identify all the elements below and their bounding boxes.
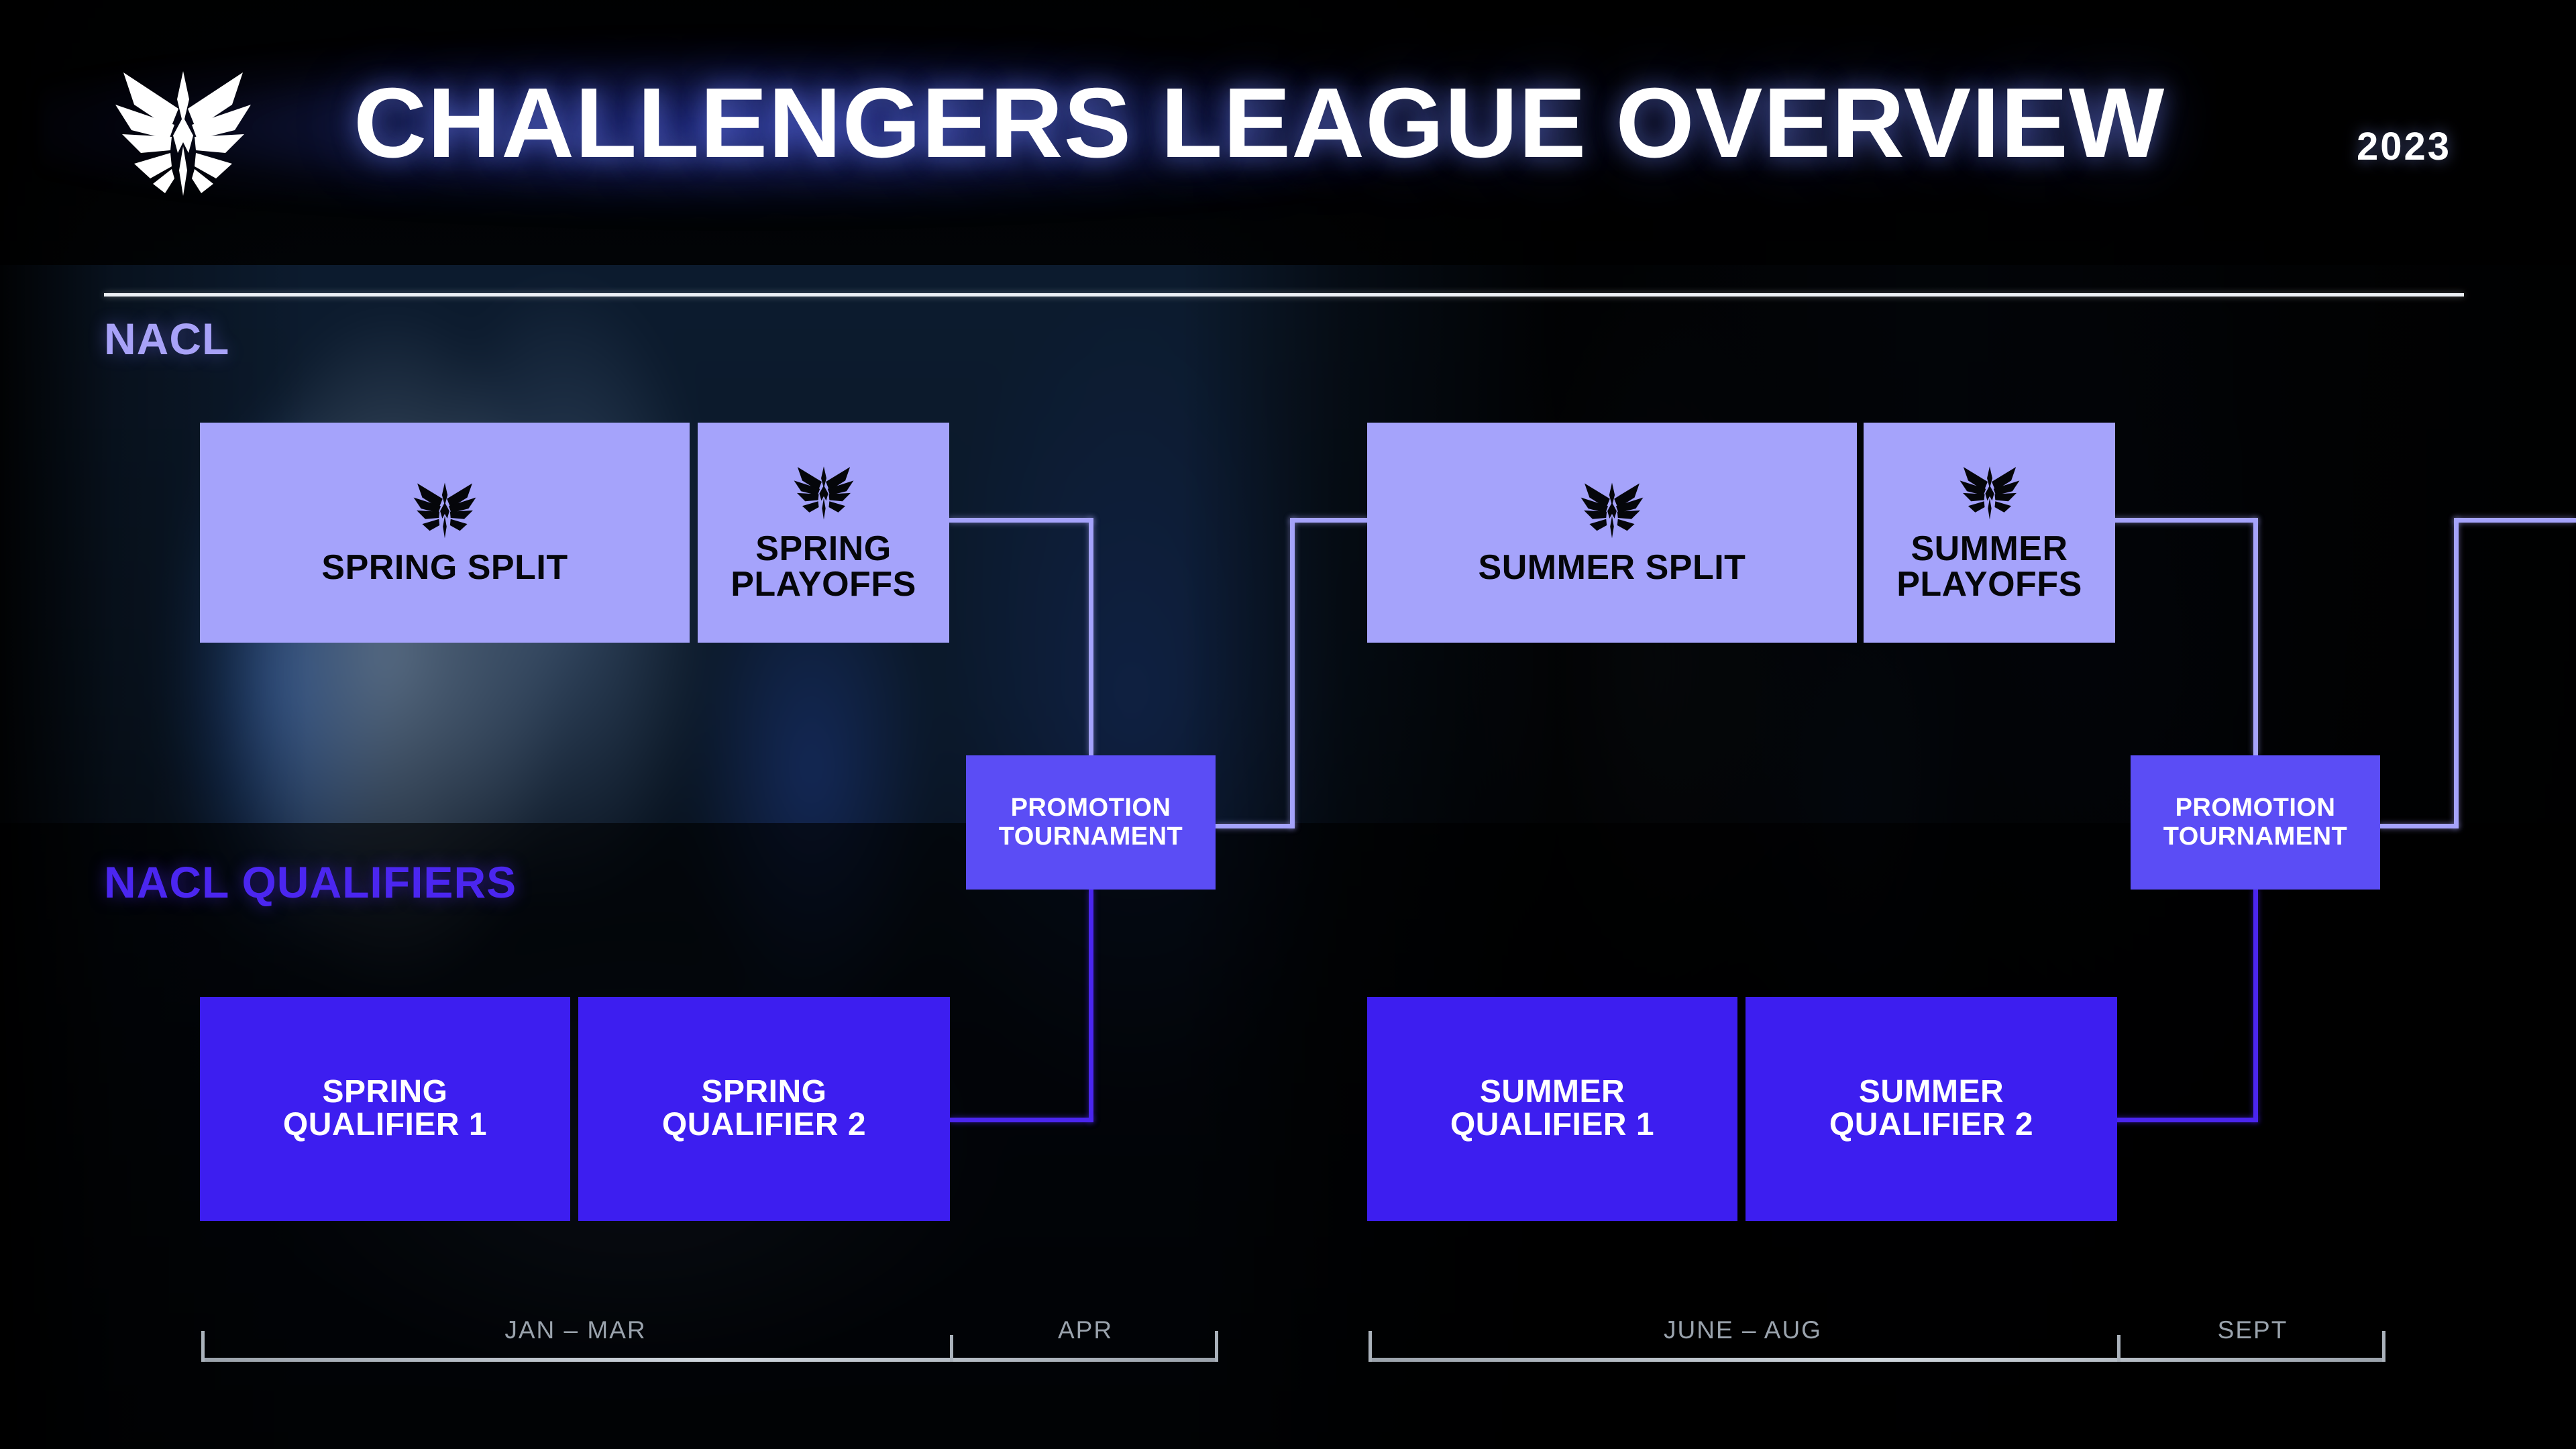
timeline-spring: JAN – MAR APR — [201, 1315, 1218, 1362]
stage-box-summer-playoffs[interactable]: SUMMER PLAYOFFS — [1864, 423, 2115, 643]
stage-label: SUMMER SPLIT — [1479, 550, 1746, 586]
stage-label: PROMOTION TOURNAMENT — [999, 794, 1183, 851]
timeline-summer: JUNE – AUG SEPT — [1368, 1315, 2385, 1362]
timeline-segment-label: SEPT — [2218, 1316, 2288, 1344]
connector-summer-promotion-to-next-v — [2454, 518, 2459, 828]
connector-spring-promotion-to-summer-h1 — [1216, 824, 1295, 828]
stage-label: SUMMER QUALIFIER 1 — [1450, 1076, 1654, 1142]
stage-box-summer-qualifier-1[interactable]: SUMMER QUALIFIER 1 — [1367, 997, 1737, 1221]
wings-logo-icon — [786, 463, 861, 522]
connector-spring-playoffs-to-promotion-h — [949, 518, 1093, 523]
wings-logo-icon — [405, 479, 484, 541]
connector-summer-playoffs-to-promotion-v — [2253, 518, 2258, 755]
stage-box-promotion-tournament-spring[interactable]: PROMOTION TOURNAMENT — [966, 755, 1216, 890]
timeline-segment-label: APR — [1058, 1316, 1113, 1344]
stage-label: SPRING QUALIFIER 1 — [283, 1076, 487, 1142]
wings-logo-icon — [1952, 463, 2027, 522]
stage-label: SPRING SPLIT — [321, 550, 568, 586]
timeline-bar — [1368, 1358, 2385, 1362]
header-divider — [104, 293, 2464, 297]
stage-box-summer-qualifier-2[interactable]: SUMMER QUALIFIER 2 — [1746, 997, 2117, 1221]
connector-summer-promotion-to-next-h2 — [2454, 518, 2576, 523]
stage-label: SUMMER QUALIFIER 2 — [1829, 1076, 2033, 1142]
section-label-nacl-qualifiers: NACL QUALIFIERS — [104, 857, 517, 908]
connector-spring-promotion-to-summer-v — [1290, 518, 1295, 828]
connector-summer-promotion-to-qualifier-h — [2113, 1118, 2258, 1122]
page-title: CHALLENGERS LEAGUE OVERVIEW — [354, 74, 2165, 173]
timeline-tick-end — [1215, 1331, 1218, 1362]
stage-box-spring-split[interactable]: SPRING SPLIT — [200, 423, 690, 643]
timeline-tick-mid — [2117, 1335, 2121, 1362]
stage-box-spring-playoffs[interactable]: SPRING PLAYOFFS — [698, 423, 949, 643]
year-badge: 2023 — [2357, 124, 2451, 169]
timeline-tick-start — [201, 1331, 205, 1362]
stage-label: SPRING QUALIFIER 2 — [662, 1076, 866, 1142]
connector-spring-promotion-to-summer-h2 — [1290, 518, 1369, 523]
timeline-tick-end — [2382, 1331, 2385, 1362]
section-label-nacl: NACL — [104, 313, 229, 364]
timeline-segment-label: JAN – MAR — [504, 1316, 646, 1344]
timeline-segment-label: JUNE – AUG — [1664, 1316, 1822, 1344]
stage-box-spring-qualifier-2[interactable]: SPRING QUALIFIER 2 — [578, 997, 950, 1221]
stage-box-promotion-tournament-summer[interactable]: PROMOTION TOURNAMENT — [2131, 755, 2380, 890]
challengers-wings-logo-icon — [99, 52, 267, 207]
connector-summer-promotion-to-next-h1 — [2379, 824, 2459, 828]
timeline-tick-start — [1368, 1331, 1372, 1362]
connector-spring-promotion-to-qualifier-v — [1089, 889, 1093, 1122]
connector-summer-promotion-to-qualifier-v — [2253, 889, 2258, 1122]
page-header: CHALLENGERS LEAGUE OVERVIEW 2023 — [0, 0, 2576, 268]
connector-spring-promotion-to-qualifier-h — [950, 1118, 1093, 1122]
timeline-tick-mid — [950, 1335, 953, 1362]
stage-label: SUMMER PLAYOFFS — [1896, 531, 2082, 602]
connector-spring-playoffs-to-promotion-v — [1089, 518, 1093, 755]
stage-box-summer-split[interactable]: SUMMER SPLIT — [1367, 423, 1857, 643]
stage-box-spring-qualifier-1[interactable]: SPRING QUALIFIER 1 — [200, 997, 570, 1221]
stage-label: SPRING PLAYOFFS — [731, 531, 916, 602]
wings-logo-icon — [1572, 479, 1652, 541]
slide-canvas: CHALLENGERS LEAGUE OVERVIEW 2023 NACL NA… — [0, 0, 2576, 1449]
timeline-bar — [201, 1358, 1218, 1362]
stage-label: PROMOTION TOURNAMENT — [2163, 794, 2348, 851]
connector-summer-playoffs-to-promotion-h — [2112, 518, 2258, 523]
